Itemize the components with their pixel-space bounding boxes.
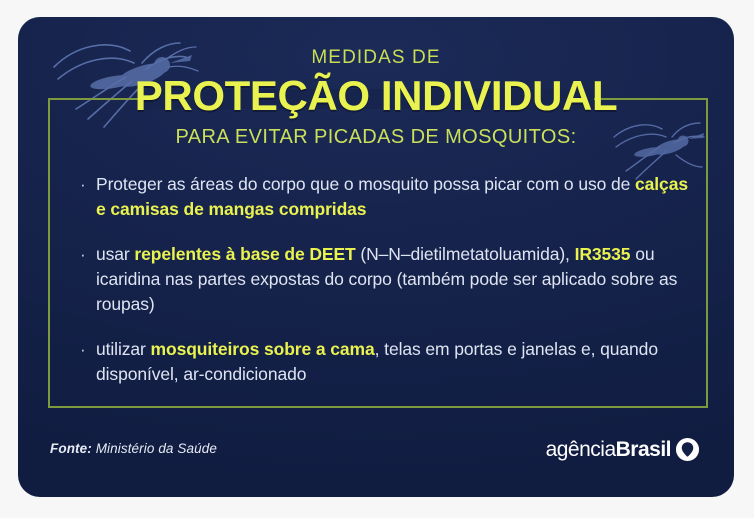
plain-phrase: usar (96, 244, 134, 264)
highlighted-phrase: IR3535 (575, 244, 631, 264)
list-item-text: Proteger as áreas do corpo que o mosquit… (96, 172, 692, 222)
subtitle-text: PARA EVITAR PICADAS DE MOSQUITOS: (18, 126, 734, 149)
list-item: ·usar repelentes à base de DEET (N–N–die… (80, 242, 692, 317)
bullet-icon: · (80, 242, 96, 267)
brand-light-text: agência (546, 438, 616, 461)
footer: Fonte: Ministério da Saúde agênciaBrasil (18, 439, 734, 469)
eyebrow-text: MEDIDAS DE (18, 47, 734, 69)
infographic-stage: MEDIDAS DE PROTEÇÃO INDIVIDUAL PARA EVIT… (0, 0, 754, 518)
highlighted-phrase: repelentes à base de DEET (134, 244, 355, 264)
infographic-card: MEDIDAS DE PROTEÇÃO INDIVIDUAL PARA EVIT… (18, 17, 734, 497)
source-label: Fonte: (50, 441, 92, 456)
list-item-text: usar repelentes à base de DEET (N–N–diet… (96, 242, 692, 317)
brand-bold-text: Brasil (616, 438, 671, 461)
list-item: ·utilizar mosquiteiros sobre a cama, tel… (80, 337, 692, 387)
bullet-icon: · (80, 172, 96, 197)
brand-wordmark: agênciaBrasil (546, 438, 671, 462)
plain-phrase: Proteger as áreas do corpo que o mosquit… (96, 174, 635, 194)
measures-list: ·Proteger as áreas do corpo que o mosqui… (80, 172, 692, 407)
source-value: Ministério da Saúde (96, 441, 217, 456)
list-item: ·Proteger as áreas do corpo que o mosqui… (80, 172, 692, 222)
header: MEDIDAS DE PROTEÇÃO INDIVIDUAL PARA EVIT… (18, 17, 734, 149)
plain-phrase: utilizar (96, 339, 151, 359)
highlighted-phrase: mosquiteiros sobre a cama (151, 339, 375, 359)
list-item-text: utilizar mosquiteiros sobre a cama, tela… (96, 337, 692, 387)
agencia-brasil-logo: agênciaBrasil (546, 437, 700, 462)
page-title: PROTEÇÃO INDIVIDUAL (18, 75, 734, 118)
plain-phrase: (N–N–dietilmetatoluamida), (356, 244, 575, 264)
brand-circle-icon (675, 437, 700, 462)
source-credit: Fonte: Ministério da Saúde (50, 441, 217, 456)
bullet-icon: · (80, 337, 96, 362)
